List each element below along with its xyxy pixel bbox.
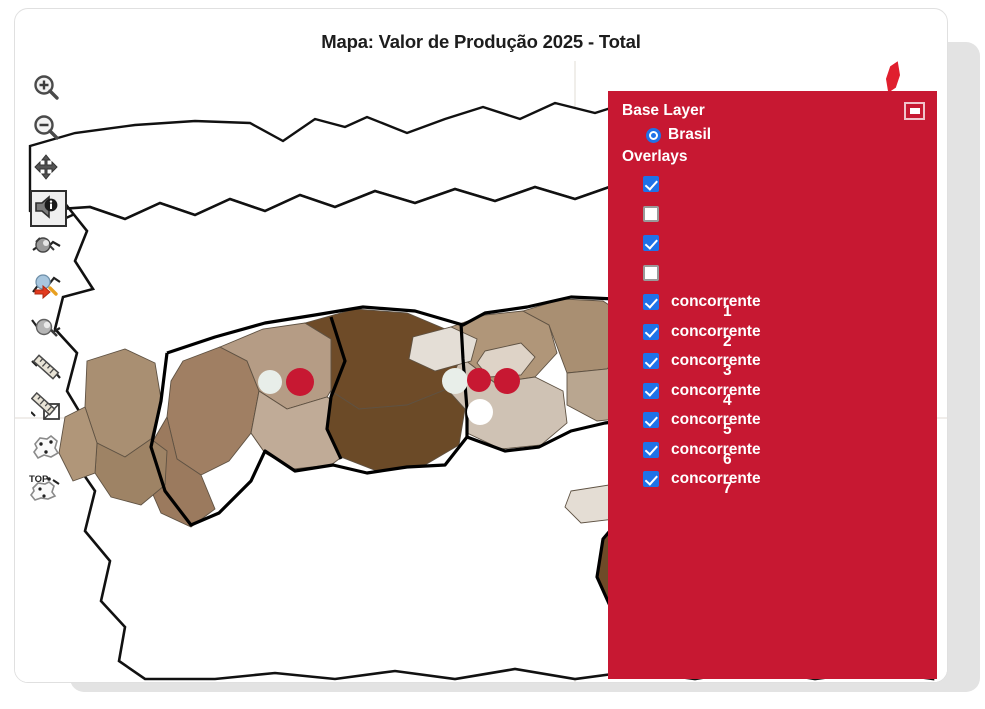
overlay-checkbox-8[interactable] [643,412,659,428]
globe-gear-icon[interactable] [26,227,66,267]
overlay-item-7[interactable]: concorrente 4 [643,382,925,412]
base-layer-label: Brasil [668,126,711,144]
select-region-icon[interactable] [26,427,66,467]
overlay-label-6: concorrente 3 [671,352,761,369]
overlay-label-10: concorrente 7 [671,470,761,487]
overlay-label-5: concorrente 2 [671,323,761,340]
marker-4[interactable] [467,368,491,392]
overlay-label-number-8: 5 [723,421,732,438]
globe-back-icon[interactable] [26,267,66,307]
panel-header: Base Layer [622,101,925,121]
ruler-area-icon[interactable] [26,387,66,427]
marker-5[interactable] [494,368,520,394]
overlay-item-0[interactable] [643,175,925,205]
overlay-label-number-5: 2 [723,333,732,350]
overlay-label-9: concorrente 6 [671,441,761,458]
marker-6[interactable] [467,399,493,425]
overlay-label-number-4: 1 [723,303,732,320]
overlay-item-8[interactable]: concorrente 5 [643,411,925,441]
top-region-icon[interactable]: TOP [26,467,66,507]
overlay-label-4: concorrente 1 [671,293,761,310]
overlay-checkbox-4[interactable] [643,294,659,310]
overlay-label-text-4: concorrente [671,293,761,310]
overlay-item-2[interactable] [643,234,925,264]
map-toolbar[interactable]: TOP [23,67,69,507]
overlays-heading: Overlays [622,146,925,168]
overlay-item-9[interactable]: concorrente 6 [643,441,925,471]
globe-forward-icon[interactable] [26,307,66,347]
marker-2[interactable] [286,368,314,396]
page-title: Mapa: Valor de Produção 2025 - Total [15,31,947,53]
overlay-label-text-6: concorrente [671,352,761,369]
overlay-label-text-5: concorrente [671,323,761,340]
overlay-item-10[interactable]: concorrente 7 [643,470,925,500]
zoom-out-icon[interactable] [26,107,66,147]
overlay-checkbox-5[interactable] [643,324,659,340]
layer-control-panel[interactable]: Base Layer Brasil Overlays [608,91,937,679]
overlay-item-4[interactable]: concorrente 1 [643,293,925,323]
overlay-item-5[interactable]: concorrente 2 [643,323,925,353]
marker-3[interactable] [442,368,468,394]
minus-icon [910,108,920,114]
base-layer-item-brasil[interactable]: Brasil [646,126,925,144]
overlay-label-number-10: 7 [723,480,732,497]
base-layer-heading: Base Layer [622,101,705,121]
overlay-checkbox-9[interactable] [643,442,659,458]
overlay-label-text-7: concorrente [671,382,761,399]
overlay-checkbox-10[interactable] [643,471,659,487]
radio-brasil[interactable] [646,128,661,143]
overlay-checkbox-2[interactable] [643,235,659,251]
zoom-in-icon[interactable] [26,67,66,107]
overlay-checkbox-0[interactable] [643,176,659,192]
overlay-label-7: concorrente 4 [671,382,761,399]
overlay-checkbox-1[interactable] [643,206,659,222]
overlay-item-3[interactable] [643,264,925,294]
identify-info-icon[interactable] [26,187,66,227]
map-card: Mapa: Valor de Produção 2025 - Total [14,8,948,683]
overlay-label-number-7: 4 [723,392,732,409]
pan-icon[interactable] [26,147,66,187]
collapse-panel-button[interactable] [904,102,925,120]
overlay-label-text-8: concorrente [671,411,761,428]
map-application: Mapa: Valor de Produção 2025 - Total [0,0,985,709]
overlay-label-text-10: concorrente [671,470,761,487]
overlay-list: concorrente 1 concorrente 2 concorrente [622,175,925,500]
overlay-label-text-9: concorrente [671,441,761,458]
overlay-checkbox-6[interactable] [643,353,659,369]
marker-1[interactable] [258,370,282,394]
overlay-label-8: concorrente 5 [671,411,761,428]
overlay-item-6[interactable]: concorrente 3 [643,352,925,382]
overlay-checkbox-3[interactable] [643,265,659,281]
overlay-item-1[interactable] [643,205,925,235]
overlay-label-number-6: 3 [723,362,732,379]
overlay-label-number-9: 6 [723,451,732,468]
overlay-checkbox-7[interactable] [643,383,659,399]
ruler-icon[interactable] [26,347,66,387]
